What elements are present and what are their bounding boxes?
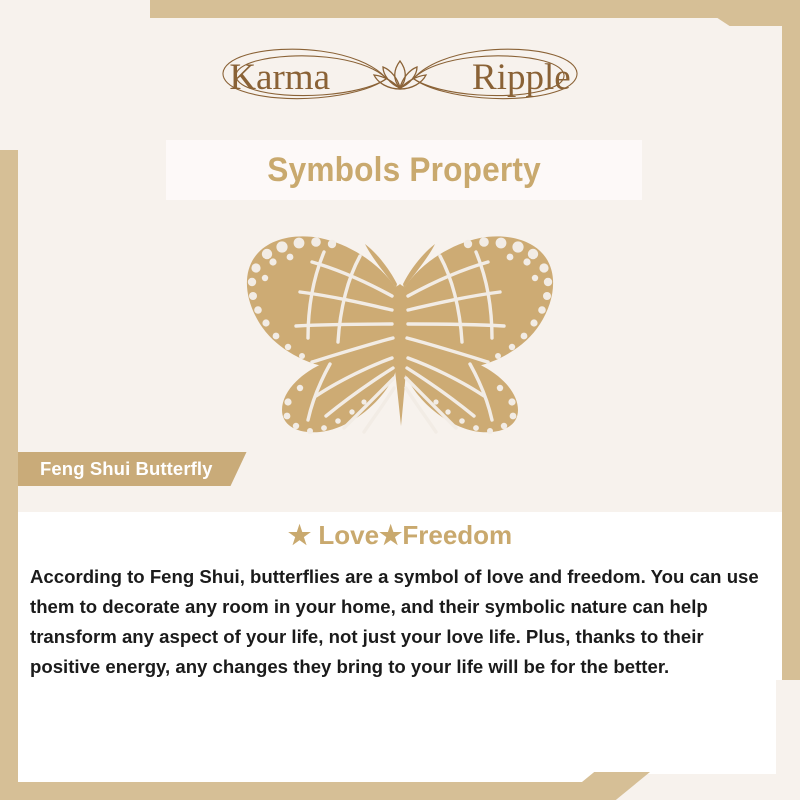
title-band: Symbols Property [166,140,642,200]
brand-name-right: Ripple [472,57,571,98]
lotus-infinity-icon: Karma Ripple [190,39,610,117]
description-panel: ★ Love★Freedom According to Feng Shui, b… [18,490,782,782]
brand-logo: Karma Ripple [18,32,782,124]
page-root: Karma Ripple Symbols Property [0,0,800,800]
brand-name-left: Karma [229,57,330,98]
category-tag: Feng Shui Butterfly [18,452,247,486]
frame-corner-bottom-right-vertical [776,680,800,800]
description-text: According to Feng Shui, butterflies are … [26,562,782,682]
page-title: Symbols Property [267,151,541,190]
panel-top-fade [18,490,782,512]
frame-corner-top-left-vertical [0,0,26,150]
content-card: Karma Ripple Symbols Property [18,18,782,782]
illustration-area [18,214,782,450]
subtitle: ★ Love★Freedom [18,520,782,551]
category-tag-label: Feng Shui Butterfly [40,458,213,480]
butterfly-icon [220,226,580,438]
